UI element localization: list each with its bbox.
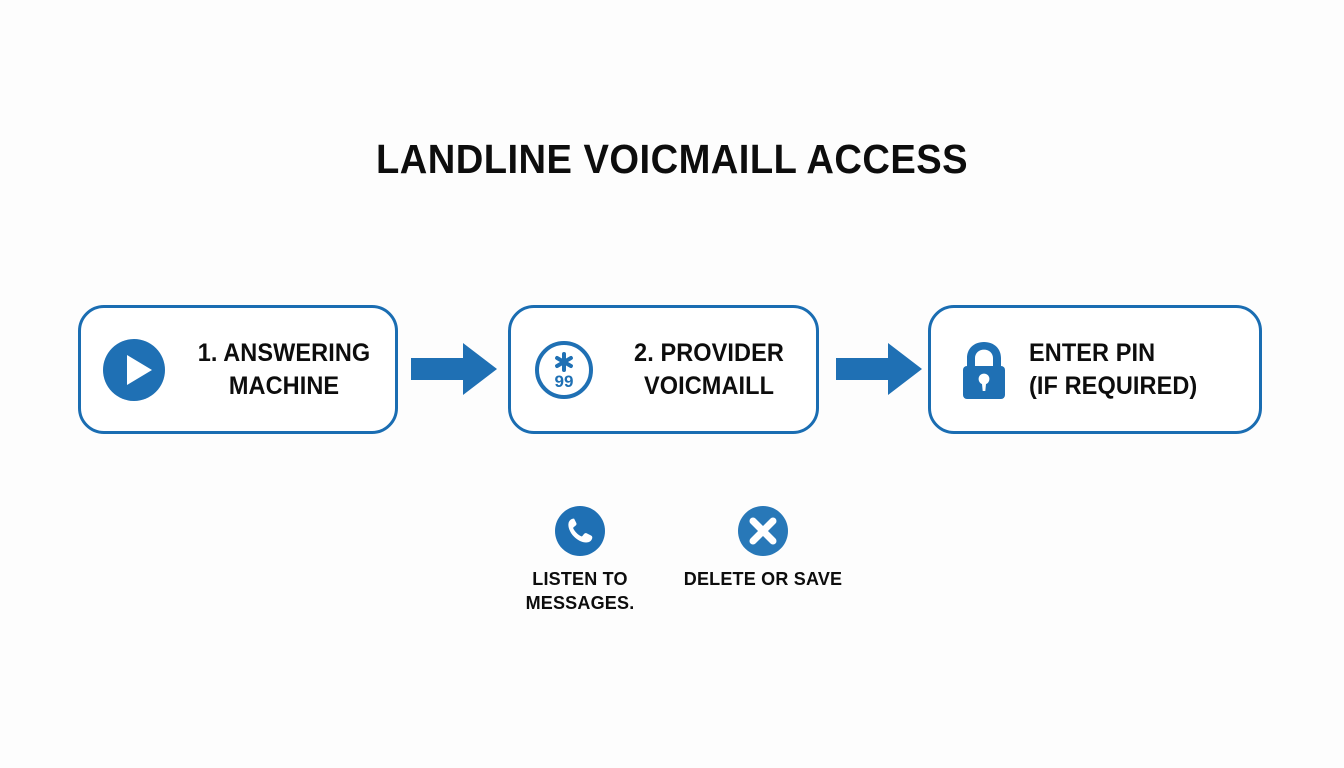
action-item-line1: LISTEN TO — [503, 567, 657, 591]
arrow-step2-to-step3-icon — [836, 341, 922, 397]
arrow-step1-to-step2-icon — [411, 341, 497, 397]
process-flow-row: 1. ANSWERING MACHINE 99 2. PROVIDER — [0, 305, 1344, 435]
play-circle-icon — [101, 337, 167, 403]
close-circle-icon — [737, 505, 789, 557]
page-title: LANDLINE VOICMAILL ACCESS — [47, 136, 1297, 183]
action-item-label: DELETE OR SAVE — [675, 567, 851, 591]
lock-icon — [951, 337, 1017, 403]
step-card-provider-voicemail[interactable]: 99 2. PROVIDER VOICMAILL — [508, 305, 819, 434]
step-card-label: ENTER PIN (IF REQUIRED) — [1029, 337, 1197, 403]
step-card-label: 2. PROVIDER VOICMAILL — [615, 337, 803, 403]
action-item-line2: MESSAGES. — [503, 591, 657, 615]
step-card-line1: 2. PROVIDER — [615, 337, 803, 370]
step-card-line1: ENTER PIN — [1029, 337, 1197, 370]
step-card-label: 1. ANSWERING MACHINE — [185, 337, 382, 403]
phone-circle-icon — [554, 505, 606, 557]
star-99-code-icon: 99 — [531, 337, 597, 403]
action-item-line1: DELETE OR SAVE — [675, 567, 851, 591]
action-item-listen-to-messages[interactable]: LISTEN TO MESSAGES. — [503, 505, 657, 616]
action-item-delete-or-save[interactable]: DELETE OR SAVE — [675, 505, 851, 591]
step-card-line2: (IF REQUIRED) — [1029, 370, 1197, 403]
svg-text:99: 99 — [555, 372, 574, 391]
step-card-line1: 1. ANSWERING — [185, 337, 382, 370]
action-items-row: LISTEN TO MESSAGES. DELETE OR SAVE — [0, 505, 1344, 625]
step-card-line2: MACHINE — [185, 370, 382, 403]
step-card-line2: VOICMAILL — [615, 370, 803, 403]
step-card-answering-machine[interactable]: 1. ANSWERING MACHINE — [78, 305, 398, 434]
infographic-canvas: LANDLINE VOICMAILL ACCESS 1. ANSWERING M… — [0, 0, 1344, 768]
action-item-label: LISTEN TO MESSAGES. — [503, 567, 657, 616]
step-card-enter-pin[interactable]: ENTER PIN (IF REQUIRED) — [928, 305, 1262, 434]
